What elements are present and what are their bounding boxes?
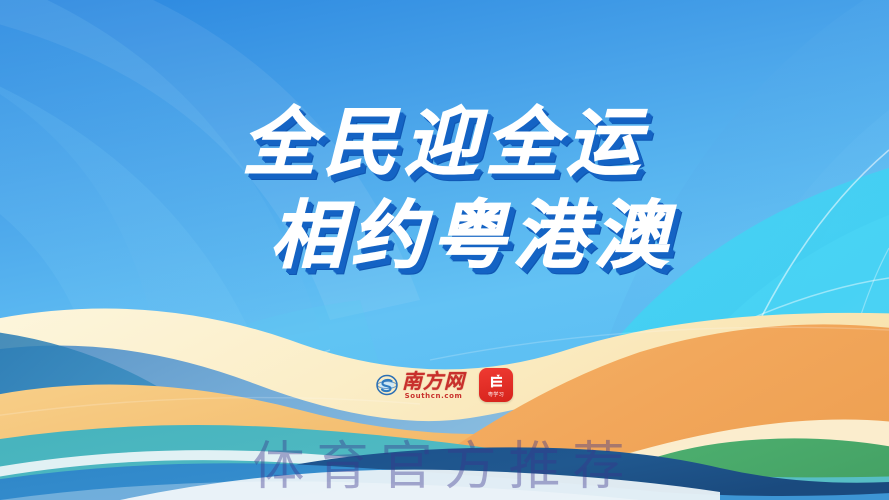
yuexuexi-label: 粤学习: [488, 391, 504, 398]
logo-row: 南方网 Southcn.com 粤学习: [0, 368, 889, 402]
poster-title: 全民迎全运 相约粤港澳: [0, 104, 889, 276]
yuexuexi-book-icon: [488, 373, 505, 390]
southcn-logo[interactable]: 南方网 Southcn.com: [376, 371, 465, 400]
southcn-name-cn: 南方网: [402, 371, 465, 391]
southcn-s-emblem: [376, 374, 398, 396]
poster-canvas: 全民迎全运 相约粤港澳 南方网 Southcn.com: [0, 0, 889, 500]
watermark-text: 体育官方推荐: [0, 424, 889, 499]
southcn-wordmark: 南方网 Southcn.com: [402, 371, 465, 400]
title-line-2: 相约粤港澳: [0, 197, 889, 276]
southcn-name-en: Southcn.com: [405, 393, 463, 400]
title-line-1: 全民迎全运: [0, 104, 889, 183]
yuexuexi-app-icon[interactable]: 粤学习: [479, 368, 513, 402]
